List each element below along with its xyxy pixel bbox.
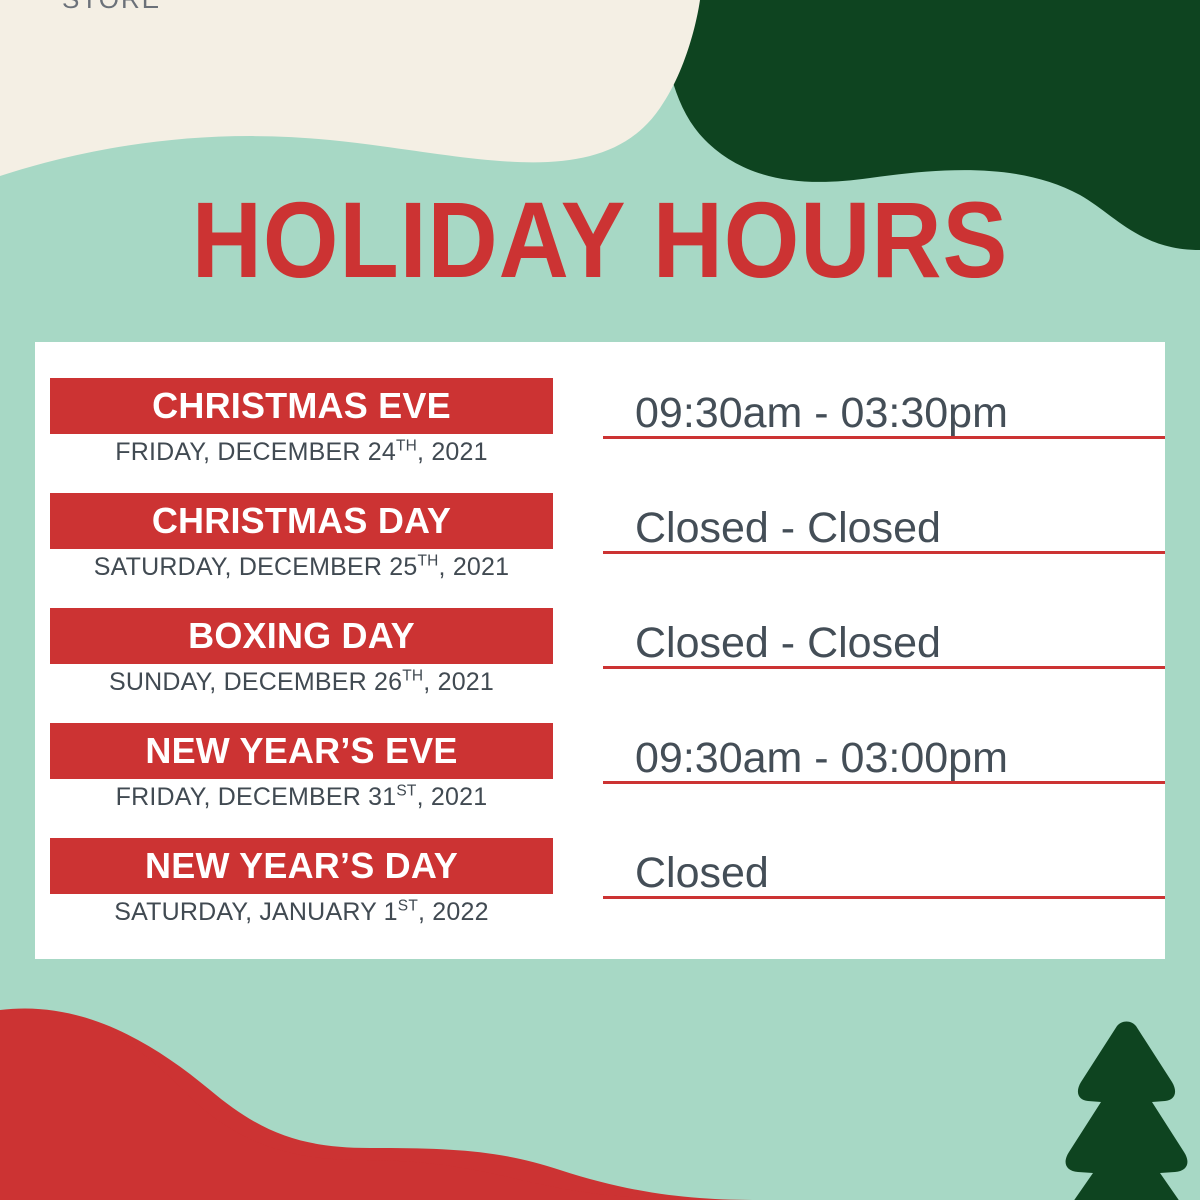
page-title: HOLIDAY HOURS bbox=[60, 186, 1140, 294]
holiday-date-label: FRIDAY, DECEMBER 24TH, 2021 bbox=[50, 438, 553, 467]
hours-cell: Closed bbox=[603, 838, 1165, 899]
holiday-date-label: FRIDAY, DECEMBER 31ST, 2021 bbox=[50, 783, 553, 812]
christmas-tree-icon bbox=[1055, 1022, 1198, 1200]
date-weekday: FRIDAY, DECEMBER 24 bbox=[115, 438, 396, 466]
schedule-card: CHRISTMAS EVE FRIDAY, DECEMBER 24TH, 202… bbox=[35, 342, 1165, 959]
date-year: , 2021 bbox=[417, 438, 488, 466]
date-year: , 2021 bbox=[423, 668, 494, 696]
red-wave-body bbox=[0, 1010, 720, 1200]
date-ordinal: ST bbox=[398, 898, 418, 915]
table-row: CHRISTMAS EVE FRIDAY, DECEMBER 24TH, 202… bbox=[35, 378, 1165, 493]
table-row: BOXING DAY SUNDAY, DECEMBER 26TH, 2021 C… bbox=[35, 608, 1165, 723]
table-row: CHRISTMAS DAY SATURDAY, DECEMBER 25TH, 2… bbox=[35, 493, 1165, 608]
holiday-name-label: CHRISTMAS EVE bbox=[152, 388, 451, 424]
holiday-name-label: CHRISTMAS DAY bbox=[152, 503, 451, 539]
date-ordinal: TH bbox=[402, 668, 423, 685]
hours-value: 09:30am - 03:00pm bbox=[603, 735, 1008, 781]
hours-value: 09:30am - 03:30pm bbox=[603, 390, 1008, 436]
hours-cell: 09:30am - 03:00pm bbox=[603, 723, 1165, 784]
table-row: NEW YEAR’S EVE FRIDAY, DECEMBER 31ST, 20… bbox=[35, 723, 1165, 838]
hours-value: Closed - Closed bbox=[603, 505, 941, 551]
holiday-name-label: BOXING DAY bbox=[188, 618, 415, 654]
date-weekday: FRIDAY, DECEMBER 31 bbox=[116, 783, 397, 811]
date-ordinal: TH bbox=[417, 553, 438, 570]
holiday-name-banner: CHRISTMAS EVE bbox=[50, 378, 553, 434]
hours-cell: Closed - Closed bbox=[603, 608, 1165, 669]
date-ordinal: ST bbox=[396, 783, 416, 800]
holiday-name-banner: NEW YEAR’S EVE bbox=[50, 723, 553, 779]
holiday-date-label: SUNDAY, DECEMBER 26TH, 2021 bbox=[50, 668, 553, 697]
hours-value: Closed bbox=[603, 850, 769, 896]
holiday-date-label: SATURDAY, JANUARY 1ST, 2022 bbox=[50, 898, 553, 927]
date-year: , 2022 bbox=[418, 898, 489, 926]
holiday-name-banner: BOXING DAY bbox=[50, 608, 553, 664]
date-year: , 2021 bbox=[439, 553, 510, 581]
hours-cell: 09:30am - 03:30pm bbox=[603, 378, 1165, 439]
hours-cell: Closed - Closed bbox=[603, 493, 1165, 554]
date-ordinal: TH bbox=[396, 438, 417, 455]
holiday-name-banner: CHRISTMAS DAY bbox=[50, 493, 553, 549]
date-weekday: SATURDAY, DECEMBER 25 bbox=[94, 553, 418, 581]
cropped-header-text: STORE bbox=[62, 0, 161, 15]
date-weekday: SUNDAY, DECEMBER 26 bbox=[109, 668, 402, 696]
holiday-hours-poster: STORE HOLIDAY HOURS CHRISTMAS EVE FRIDAY… bbox=[0, 0, 1200, 1200]
holiday-name-banner: NEW YEAR’S DAY bbox=[50, 838, 553, 894]
cream-circle bbox=[0, 0, 700, 176]
holiday-name-label: NEW YEAR’S DAY bbox=[145, 848, 458, 884]
holiday-date-label: SATURDAY, DECEMBER 25TH, 2021 bbox=[50, 553, 553, 582]
red-wave bbox=[0, 1008, 760, 1200]
date-year: , 2021 bbox=[417, 783, 488, 811]
hours-value: Closed - Closed bbox=[603, 620, 941, 666]
holiday-name-label: NEW YEAR’S EVE bbox=[145, 733, 457, 769]
table-row: NEW YEAR’S DAY SATURDAY, JANUARY 1ST, 20… bbox=[35, 838, 1165, 953]
date-weekday: SATURDAY, JANUARY 1 bbox=[114, 898, 398, 926]
